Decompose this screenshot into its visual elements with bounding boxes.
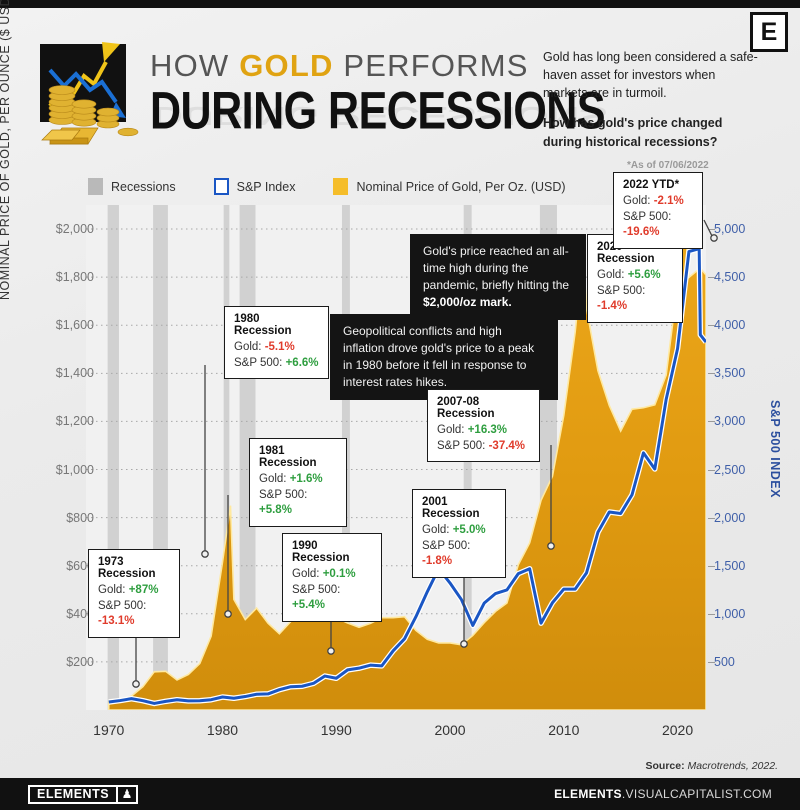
pandemic-note: Gold's price reached an all-time high du… [410, 234, 586, 320]
callout-1973[interactable]: 1973 Recession Gold: +87% S&P 500: -13.1… [88, 549, 180, 638]
y-axis-label-right: S&P 500 INDEX [768, 400, 782, 580]
callout-2007-08-gold: Gold: +16.3% [437, 423, 530, 439]
callout-1973-gold-label: Gold: [98, 584, 126, 596]
callout-2022-title: 2022 YTD* [623, 179, 693, 191]
inflation-note: Geopolitical conflicts and high inflatio… [330, 314, 558, 400]
source-value: Macrotrends, 2022. [688, 760, 778, 772]
callout-2001[interactable]: 2001 Recession Gold: +5.0% S&P 500: -1.8… [412, 489, 506, 578]
footer-bar: ELEMENTS ♟ ELEMENTS.VISUALCAPITALIST.COM [0, 778, 800, 810]
y-tick-dash [708, 614, 715, 615]
callout-1990-sp: S&P 500: +5.4% [292, 583, 372, 614]
callout-1981-gold: Gold: +1.6% [259, 472, 337, 488]
source-note: Source: Macrotrends, 2022. [646, 760, 778, 772]
legend-label-sp-index: S&P Index [237, 180, 296, 194]
callout-2022-sp: S&P 500: -19.6% [623, 210, 693, 241]
callout-1980-sp-label: S&P 500: [234, 357, 282, 369]
title-pre: HOW [150, 48, 239, 83]
callout-2001-gold-label: Gold: [422, 524, 450, 536]
sp-swatch-icon [214, 178, 229, 195]
callout-1973-sp: S&P 500: -13.1% [98, 599, 170, 630]
recession-swatch-icon [88, 178, 103, 195]
callout-2001-sp-label: S&P 500: [422, 540, 470, 552]
y-tick-dash [708, 325, 715, 326]
legend-item-sp-index[interactable]: S&P Index [214, 178, 296, 195]
callout-1980-gold-label: Gold: [234, 341, 262, 353]
callout-2007-08[interactable]: 2007-08 Recession Gold: +16.3% S&P 500: … [427, 389, 540, 462]
callout-2020-gold-value: +5.6% [628, 269, 661, 281]
callout-1980[interactable]: 1980 Recession Gold: -5.1% S&P 500: +6.6… [224, 306, 329, 379]
callout-1973-title: 1973 Recession [98, 556, 170, 580]
callout-2001-sp-value: -1.8% [422, 555, 452, 567]
chart-legend: Recessions S&P Index Nominal Price of Go… [88, 178, 596, 195]
callout-1981-sp-label: S&P 500: [259, 489, 307, 501]
callout-1973-gold: Gold: +87% [98, 583, 170, 599]
title-gold-word: GOLD [239, 48, 333, 83]
elements-badge-icon: E [750, 12, 788, 52]
callout-2022-gold-value: -2.1% [654, 195, 684, 207]
callout-1990[interactable]: 1990 Recession Gold: +0.1% S&P 500: +5.4… [282, 533, 382, 622]
y-tick-right: 3,000 [714, 414, 745, 428]
y-tick-dash [708, 229, 715, 230]
callout-1973-sp-value: -13.1% [98, 615, 134, 627]
callout-1973-sp-label: S&P 500: [98, 600, 146, 612]
callout-1990-sp-value: +5.4% [292, 599, 325, 611]
y-tick-dash [708, 470, 715, 471]
x-tick: 2020 [662, 722, 693, 738]
inflation-note-text: Geopolitical conflicts and high inflatio… [343, 324, 534, 389]
callout-1980-gold: Gold: -5.1% [234, 340, 319, 356]
elements-logo[interactable]: ELEMENTS ♟ [28, 785, 138, 804]
y-tick-right: 2,000 [714, 511, 745, 525]
callout-2001-title: 2001 Recession [422, 496, 496, 520]
callout-2022-sp-label: S&P 500: [623, 211, 671, 223]
elements-logo-mark-icon: ♟ [116, 787, 136, 802]
y-tick-right: 5,000 [714, 222, 745, 236]
callout-1981[interactable]: 1981 Recession Gold: +1.6% S&P 500: +5.8… [249, 438, 347, 527]
legend-item-recessions[interactable]: Recessions [88, 178, 176, 195]
callout-1990-sp-label: S&P 500: [292, 584, 340, 596]
callout-1980-sp: S&P 500: +6.6% [234, 356, 319, 372]
callout-2007-08-sp: S&P 500: -37.4% [437, 439, 530, 455]
x-tick: 1970 [93, 722, 124, 738]
y-tick-right: 2,500 [714, 463, 745, 477]
y-axis-label-left: NOMINAL PRICE OF GOLD, PER OUNCE ($ USD) [0, 0, 12, 300]
legend-label-recessions: Recessions [111, 180, 176, 194]
callout-2007-08-gold-value: +16.3% [468, 424, 507, 436]
callout-1981-gold-value: +1.6% [290, 473, 323, 485]
x-tick: 1990 [321, 722, 352, 738]
callout-2022-sp-value: -19.6% [623, 226, 659, 238]
y-tick-left: $1,800 [56, 270, 94, 284]
y-tick-dash [708, 373, 715, 374]
y-tick-left: $2,000 [56, 222, 94, 236]
y-tick-left: $1,400 [56, 366, 94, 380]
callout-2022-gold-label: Gold: [623, 195, 651, 207]
x-tick: 2000 [434, 722, 465, 738]
callout-2020-gold: Gold: +5.6% [597, 268, 673, 284]
y-tick-right: 3,500 [714, 366, 745, 380]
asof-note: *As of 07/06/2022 [627, 160, 709, 171]
pandemic-note-bold: $2,000/oz mark. [423, 295, 512, 309]
callout-1980-title: 1980 Recession [234, 313, 319, 337]
elements-logo-text: ELEMENTS [30, 787, 116, 802]
callout-2007-08-gold-label: Gold: [437, 424, 465, 436]
callout-1980-gold-value: -5.1% [265, 341, 295, 353]
y-tick-right: 500 [714, 655, 735, 669]
callout-1973-gold-value: +87% [129, 584, 159, 596]
callout-1990-gold-label: Gold: [292, 568, 320, 580]
y-tick-dash [708, 662, 715, 663]
legend-item-gold-price[interactable]: Nominal Price of Gold, Per Oz. (USD) [333, 178, 565, 195]
intro-paragraph: Gold has long been considered a safe-hav… [543, 50, 758, 100]
website-url[interactable]: ELEMENTS.VISUALCAPITALIST.COM [554, 787, 772, 801]
callout-1981-title: 1981 Recession [259, 445, 337, 469]
callout-2007-08-title: 2007-08 Recession [437, 396, 530, 420]
callout-1981-sp: S&P 500: +5.8% [259, 488, 337, 519]
x-tick: 1980 [207, 722, 238, 738]
callout-2020-sp-value: -1.4% [597, 300, 627, 312]
callout-2020-gold-label: Gold: [597, 269, 625, 281]
legend-label-gold-price: Nominal Price of Gold, Per Oz. (USD) [356, 180, 565, 194]
callout-1990-title: 1990 Recession [292, 540, 372, 564]
callout-1980-sp-value: +6.6% [286, 357, 319, 369]
y-tick-left: $1,200 [56, 414, 94, 428]
callout-2001-gold-value: +5.0% [453, 524, 486, 536]
callout-1981-sp-value: +5.8% [259, 504, 292, 516]
y-tick-dash [708, 277, 715, 278]
y-tick-right: 1,000 [714, 607, 745, 621]
website-url-bold: ELEMENTS [554, 787, 622, 801]
title-post: PERFORMS [334, 48, 529, 83]
callout-2001-gold: Gold: +5.0% [422, 523, 496, 539]
y-tick-left: $800 [66, 511, 94, 525]
callout-2020-sp-label: S&P 500: [597, 285, 645, 297]
title-reflection: DURING RECESSIONS [152, 101, 607, 130]
callout-2022-gold: Gold: -2.1% [623, 194, 693, 210]
gold-swatch-icon [333, 178, 348, 195]
website-url-rest: .VISUALCAPITALIST.COM [622, 787, 772, 801]
source-label: Source: [646, 760, 685, 772]
callout-1990-gold-value: +0.1% [323, 568, 356, 580]
infographic-poster: E HOW GOLD PERFORMS DURING RECESSIONS DU… [0, 0, 800, 810]
y-tick-right: 4,000 [714, 318, 745, 332]
callout-2020-sp: S&P 500: -1.4% [597, 284, 673, 315]
callout-2007-08-sp-label: S&P 500: [437, 440, 485, 452]
y-tick-left: $200 [66, 655, 94, 669]
y-tick-dash [708, 566, 715, 567]
callout-2001-sp: S&P 500: -1.8% [422, 539, 496, 570]
top-bar [0, 0, 800, 8]
y-tick-right: 1,500 [714, 559, 745, 573]
y-tick-left: $1,600 [56, 318, 94, 332]
callout-2007-08-sp-value: -37.4% [489, 440, 525, 452]
callout-1981-gold-label: Gold: [259, 473, 287, 485]
callout-1990-gold: Gold: +0.1% [292, 567, 372, 583]
pandemic-note-text: Gold's price reached an all-time high du… [423, 244, 569, 292]
intro-text: Gold has long been considered a safe-hav… [543, 48, 758, 151]
y-tick-dash [708, 518, 715, 519]
callout-2022-ytd[interactable]: 2022 YTD* Gold: -2.1% S&P 500: -19.6% [613, 172, 703, 249]
y-tick-right: 4,500 [714, 270, 745, 284]
intro-question: How has gold's price changed during hist… [543, 114, 758, 150]
y-tick-left: $1,000 [56, 463, 94, 477]
title-line-1: HOW GOLD PERFORMS [150, 48, 605, 84]
y-tick-dash [708, 421, 715, 422]
x-tick: 2010 [548, 722, 579, 738]
